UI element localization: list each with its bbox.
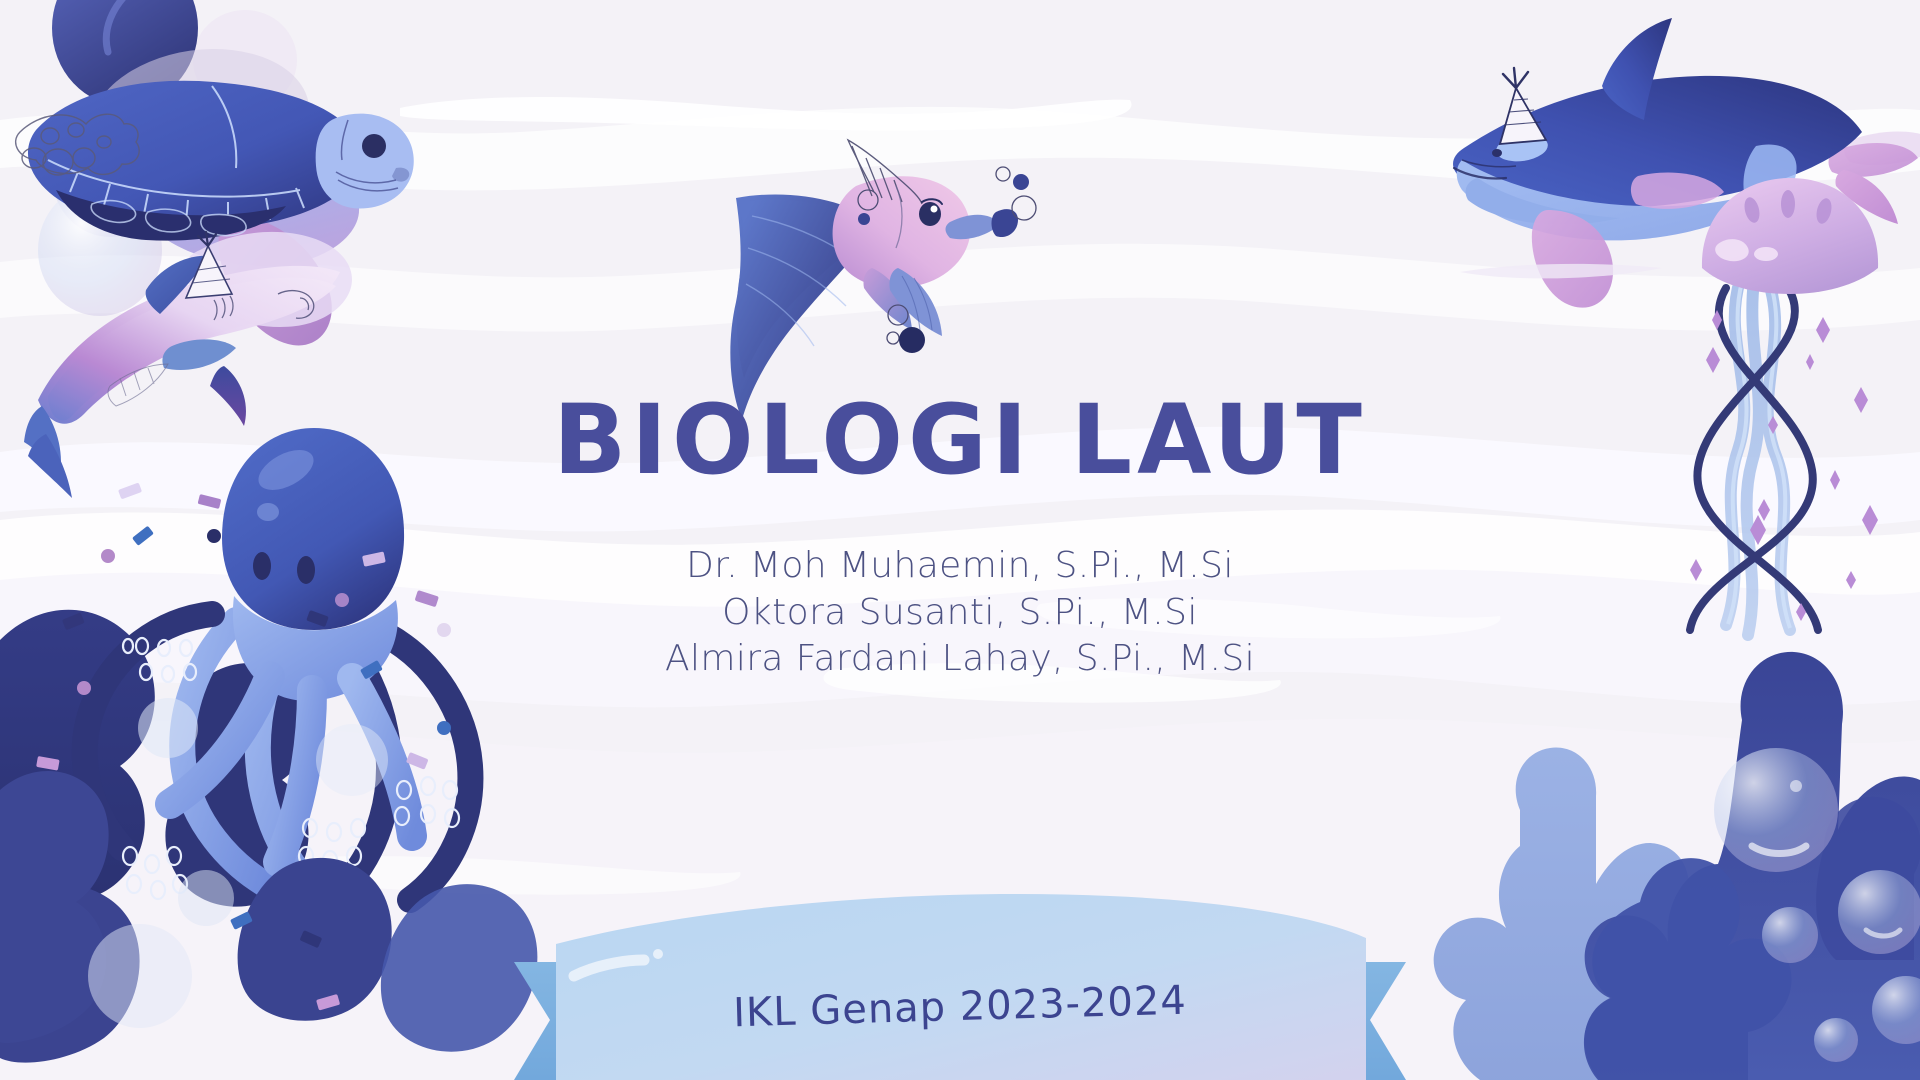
banner-ribbon-shape — [510, 880, 1410, 1080]
presentation-slide: BIOLOGI LAUT Dr. Moh Muhaemin, S.Pi., M.… — [0, 0, 1920, 1080]
course-banner: IKL Genap 2023-2024 — [510, 880, 1410, 1080]
